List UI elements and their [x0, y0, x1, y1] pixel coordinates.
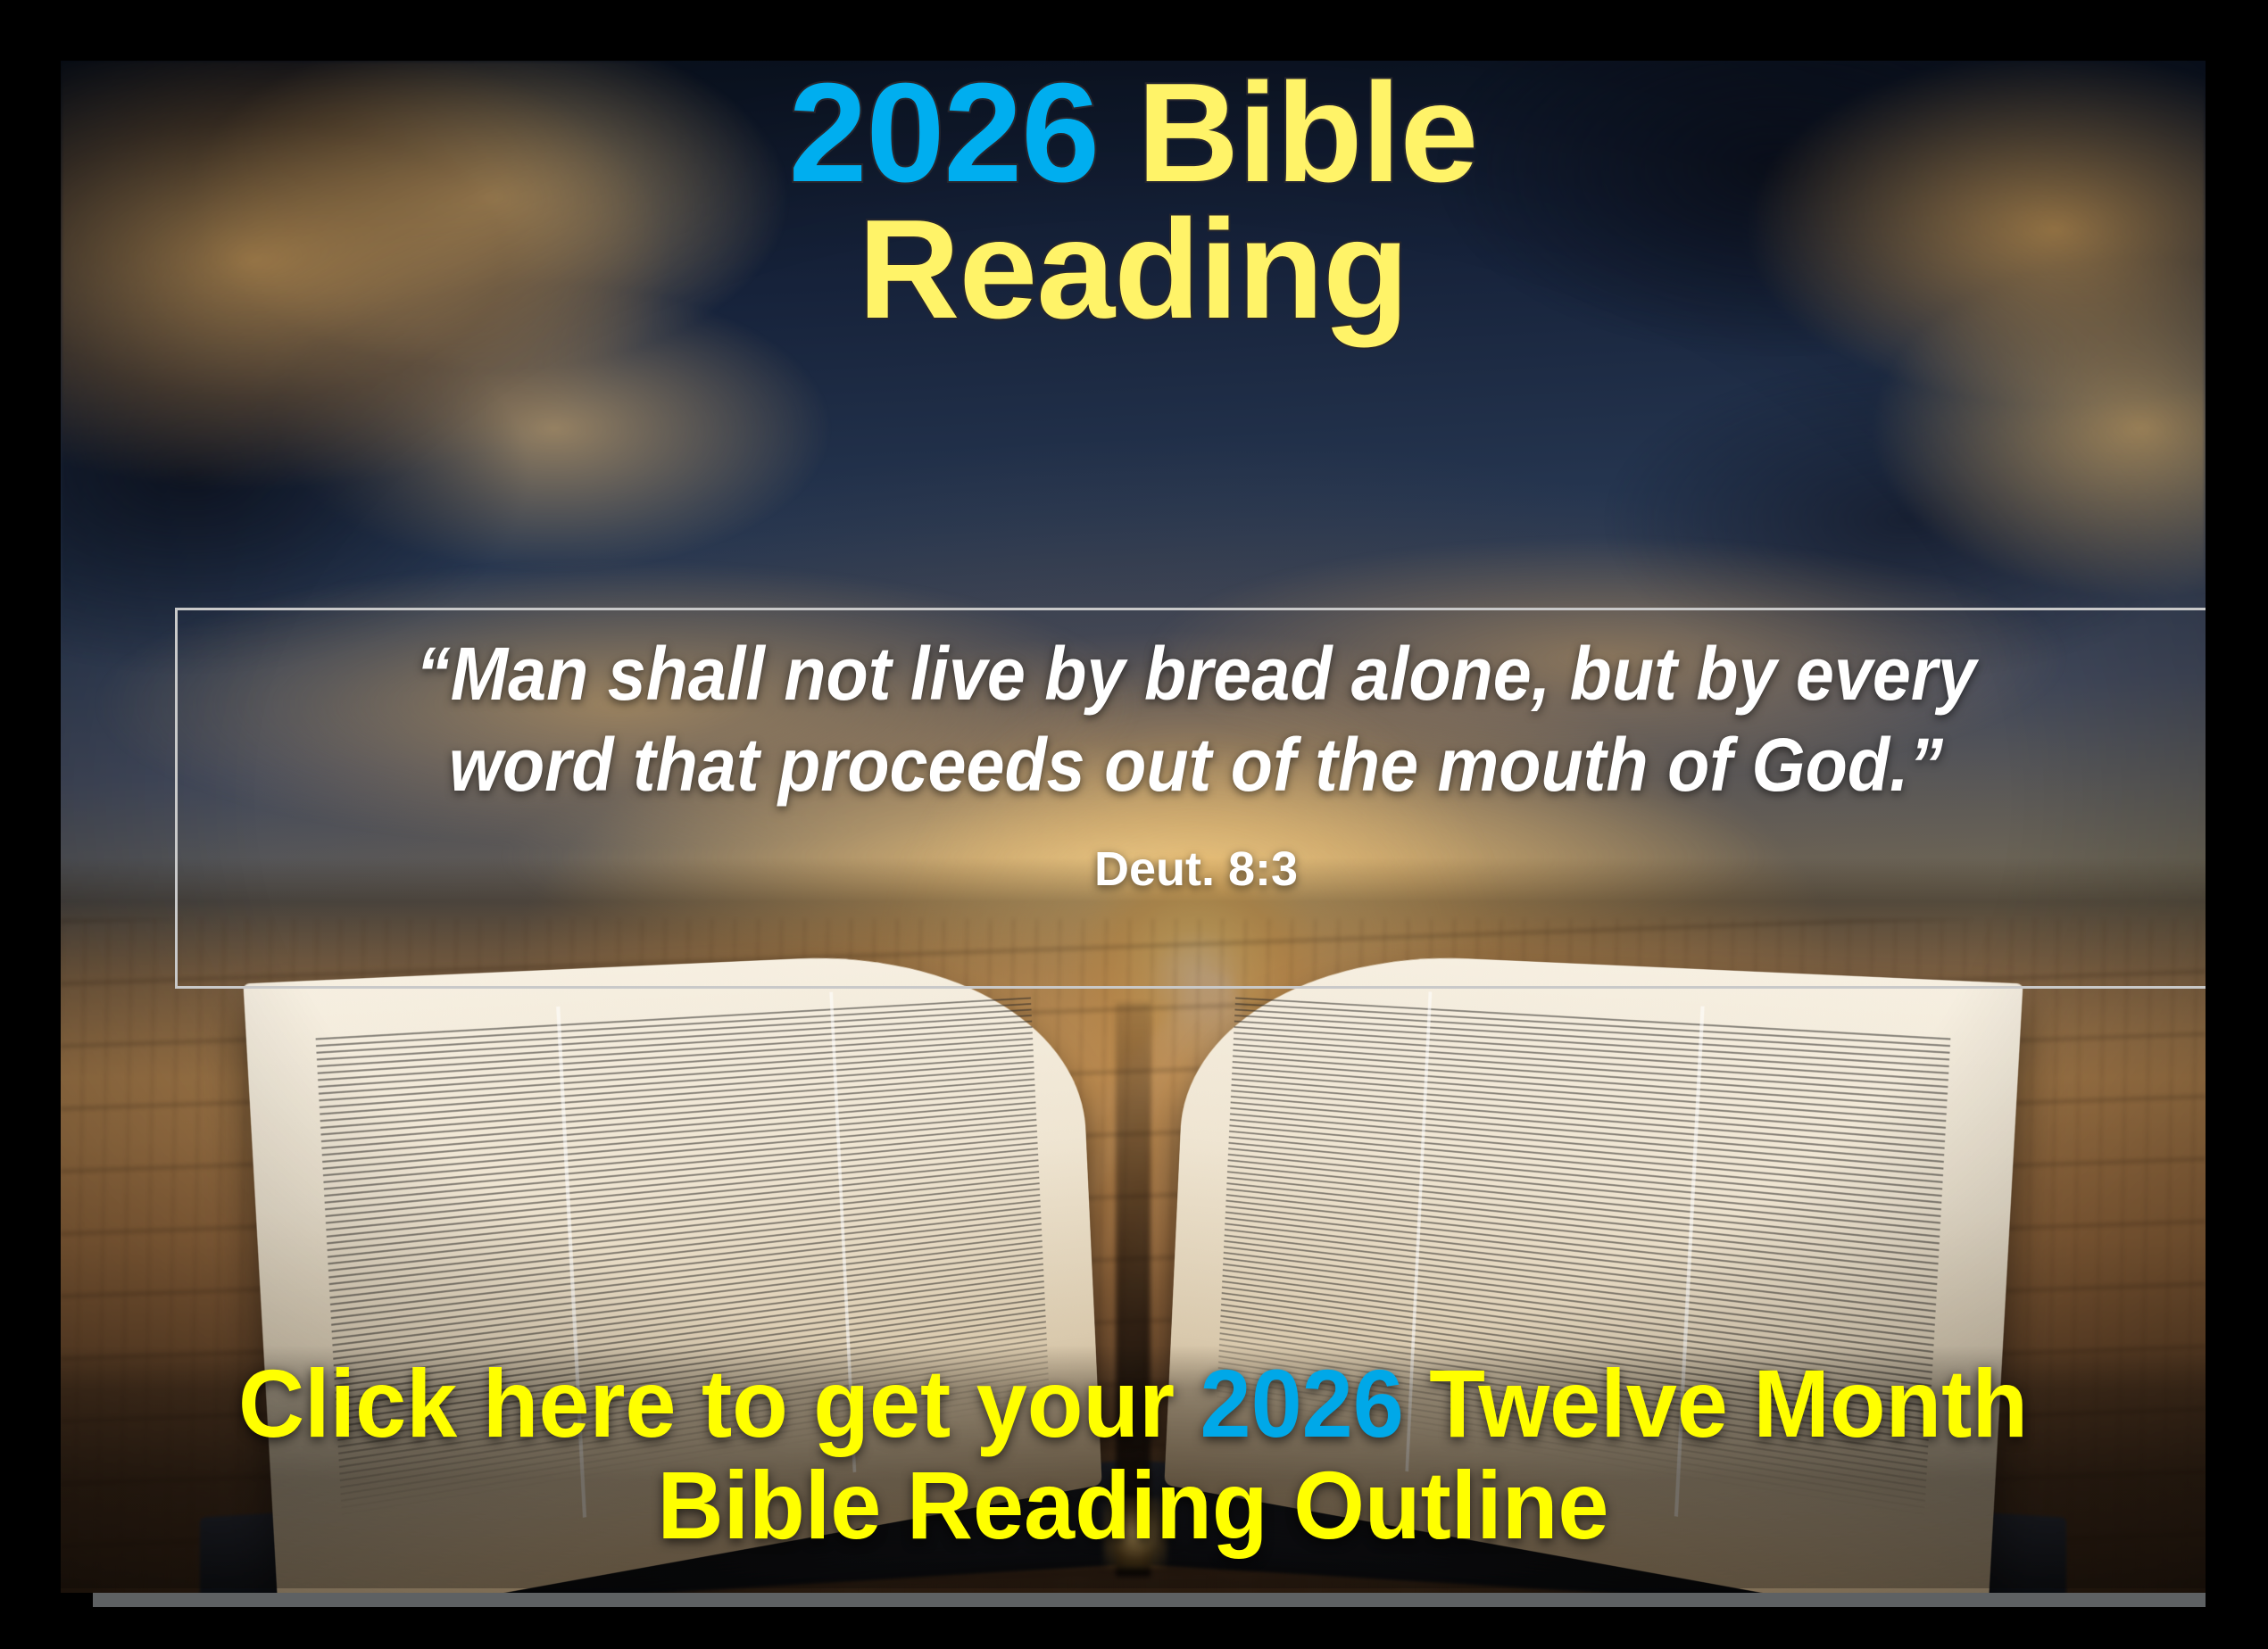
artwork-drop-shadow	[93, 1593, 2206, 1607]
poster-title: 2026 Bible Reading	[61, 65, 2206, 339]
quote-line-2: word that proceeds out of the mouth of G…	[449, 723, 1943, 807]
cta-text-before: Click here to get your	[238, 1349, 1200, 1457]
scripture-reference: Deut. 8:3	[178, 841, 2206, 897]
poster-artwork[interactable]: 2026 Bible Reading “Man shall not live b…	[61, 61, 2206, 1593]
scripture-quote-box: “Man shall not live by bread alone, but …	[175, 608, 2206, 989]
title-line-1: 2026 Bible	[61, 65, 2206, 202]
scripture-quote-text: “Man shall not live by bread alone, but …	[259, 628, 2132, 811]
poster-frame: 2026 Bible Reading “Man shall not live b…	[0, 0, 2268, 1649]
cta-year: 2026	[1200, 1349, 1404, 1457]
title-word-bible: Bible	[1137, 61, 1477, 211]
cta-line-1[interactable]: Click here to get your 2026 Twelve Month	[114, 1353, 2152, 1454]
quote-line-1: “Man shall not live by bread alone, but …	[416, 632, 1976, 716]
cta-text-after: Twelve Month	[1404, 1349, 2028, 1457]
title-year: 2026	[789, 61, 1100, 211]
title-word-reading: Reading	[858, 191, 1408, 348]
cta-link[interactable]: Click here to get your 2026 Twelve Month…	[114, 1353, 2152, 1557]
cta-line-2[interactable]: Bible Reading Outline	[114, 1454, 2152, 1556]
title-line-2: Reading	[61, 202, 2206, 338]
